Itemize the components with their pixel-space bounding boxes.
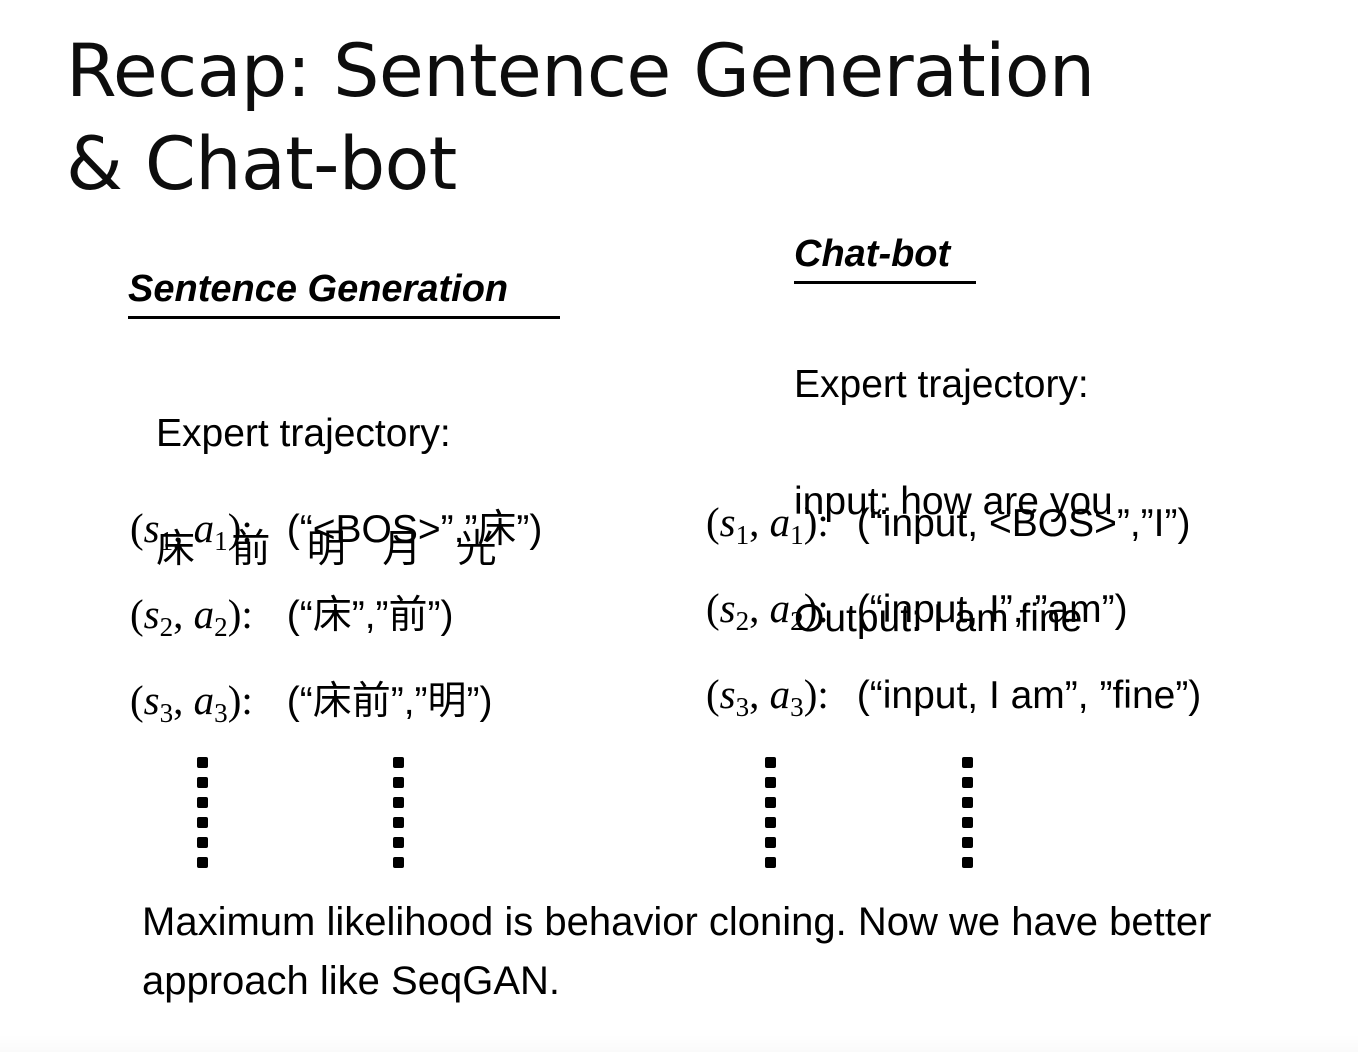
- vertical-ellipsis-icon: [765, 757, 777, 877]
- ellipsis-dot: [765, 797, 776, 808]
- state-action-label: (s1, a1):: [130, 504, 253, 552]
- state-action-pair-list-right: (s1, a1): (“input, <BOS>”,”I”) (s2, a2):…: [706, 498, 1201, 756]
- state-action-value: (“<BOS>”,”床”): [287, 498, 543, 554]
- ellipsis-dot: [197, 757, 208, 768]
- ellipsis-dot: [393, 757, 404, 768]
- state-action-pair-row: (s1, a1): (“input, <BOS>”,”I”): [706, 498, 1201, 584]
- ellipsis-dot: [765, 817, 776, 828]
- ellipsis-dot: [197, 857, 208, 868]
- section-heading-sentence-generation-label: Sentence Generation: [128, 268, 508, 310]
- ellipsis-dot: [765, 857, 776, 868]
- section-heading-chat-bot: Chat-bot: [794, 233, 976, 284]
- state-action-label: (s3, a3):: [130, 676, 253, 724]
- section-heading-sentence-generation: Sentence Generation: [128, 268, 560, 319]
- ellipsis-dot: [962, 757, 973, 768]
- ellipsis-dot: [765, 837, 776, 848]
- state-action-pair-list-left: (s1, a1): (“<BOS>”,”床”) (s2, a2): (“床”,”…: [130, 498, 542, 756]
- ellipsis-dot: [393, 777, 404, 788]
- ellipsis-dot: [197, 837, 208, 848]
- slide-bottom-edge: [0, 1034, 1358, 1052]
- expert-trajectory-label-right: Expert trajectory:: [794, 363, 1089, 406]
- section-heading-underline: [794, 281, 976, 284]
- vertical-ellipsis-icon: [197, 757, 209, 877]
- slide-canvas: Recap: Sentence Generation & Chat-bot Se…: [0, 0, 1358, 1052]
- ellipsis-dot: [197, 817, 208, 828]
- state-action-value: (“input, I”, ”am”): [857, 588, 1128, 632]
- ellipsis-dot: [962, 817, 973, 828]
- ellipsis-dot: [393, 837, 404, 848]
- state-action-label: (s2, a2):: [706, 584, 829, 632]
- ellipsis-dot: [393, 857, 404, 868]
- state-action-label: (s2, a2):: [130, 590, 253, 638]
- ellipsis-dot: [197, 797, 208, 808]
- ellipsis-dot: [962, 837, 973, 848]
- page-title: Recap: Sentence Generation & Chat-bot: [66, 26, 1216, 211]
- ellipsis-dot: [393, 817, 404, 828]
- section-heading-underline: [128, 316, 560, 319]
- state-action-value: (“input, I am”, ”fine”): [857, 674, 1202, 718]
- footer-note: Maximum likelihood is behavior cloning. …: [142, 893, 1272, 1011]
- state-action-pair-row: (s3, a3): (“input, I am”, ”fine”): [706, 670, 1201, 756]
- vertical-ellipsis-icon: [962, 757, 974, 877]
- ellipsis-dot: [962, 797, 973, 808]
- vertical-ellipsis-icon: [393, 757, 405, 877]
- state-action-pair-row: (s3, a3): (“床前”,”明”): [130, 670, 542, 756]
- ellipsis-dot: [197, 777, 208, 788]
- ellipsis-dot: [765, 777, 776, 788]
- section-heading-chat-bot-label: Chat-bot: [794, 233, 950, 275]
- expert-trajectory-label-left: Expert trajectory:: [156, 412, 451, 455]
- ellipsis-dot: [765, 757, 776, 768]
- state-action-pair-row: (s1, a1): (“<BOS>”,”床”): [130, 498, 542, 584]
- state-action-label: (s3, a3):: [706, 670, 829, 718]
- state-action-pair-row: (s2, a2): (“床”,”前”): [130, 584, 542, 670]
- ellipsis-dot: [393, 797, 404, 808]
- ellipsis-dot: [962, 777, 973, 788]
- state-action-value: (“床前”,”明”): [287, 670, 493, 726]
- state-action-pair-row: (s2, a2): (“input, I”, ”am”): [706, 584, 1201, 670]
- state-action-label: (s1, a1):: [706, 498, 829, 546]
- state-action-value: (“床”,”前”): [287, 584, 454, 640]
- state-action-value: (“input, <BOS>”,”I”): [857, 502, 1191, 546]
- ellipsis-dot: [962, 857, 973, 868]
